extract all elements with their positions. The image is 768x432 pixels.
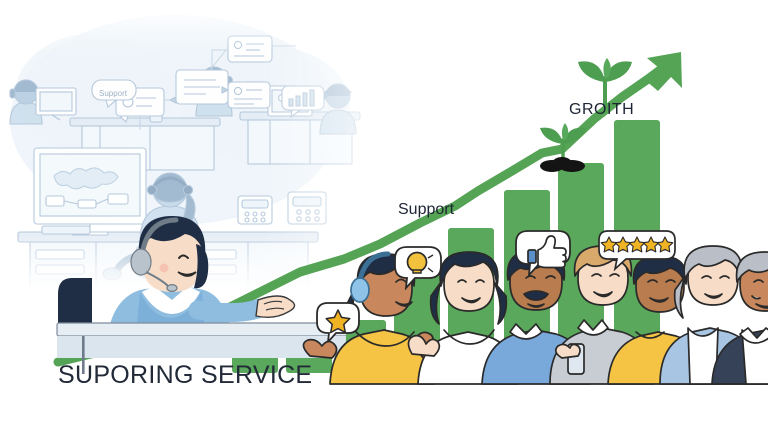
gesture-hand-1	[303, 340, 336, 358]
bubble-five-stars	[596, 228, 678, 272]
bubble-star	[314, 300, 364, 342]
illustration-canvas: Support	[0, 0, 768, 432]
bubble-thumbs-up	[513, 228, 573, 278]
open-hand	[256, 296, 295, 317]
sprout-with-soil	[528, 120, 598, 178]
bubble-lightbulb	[392, 244, 444, 290]
soil-mound	[540, 157, 585, 172]
agent-head	[131, 216, 208, 292]
support-label: Support	[398, 201, 454, 219]
page-title: SUPORING SERVICE	[58, 361, 312, 390]
growth-label: GROITH	[569, 101, 634, 119]
gesture-hand-3	[408, 336, 439, 356]
